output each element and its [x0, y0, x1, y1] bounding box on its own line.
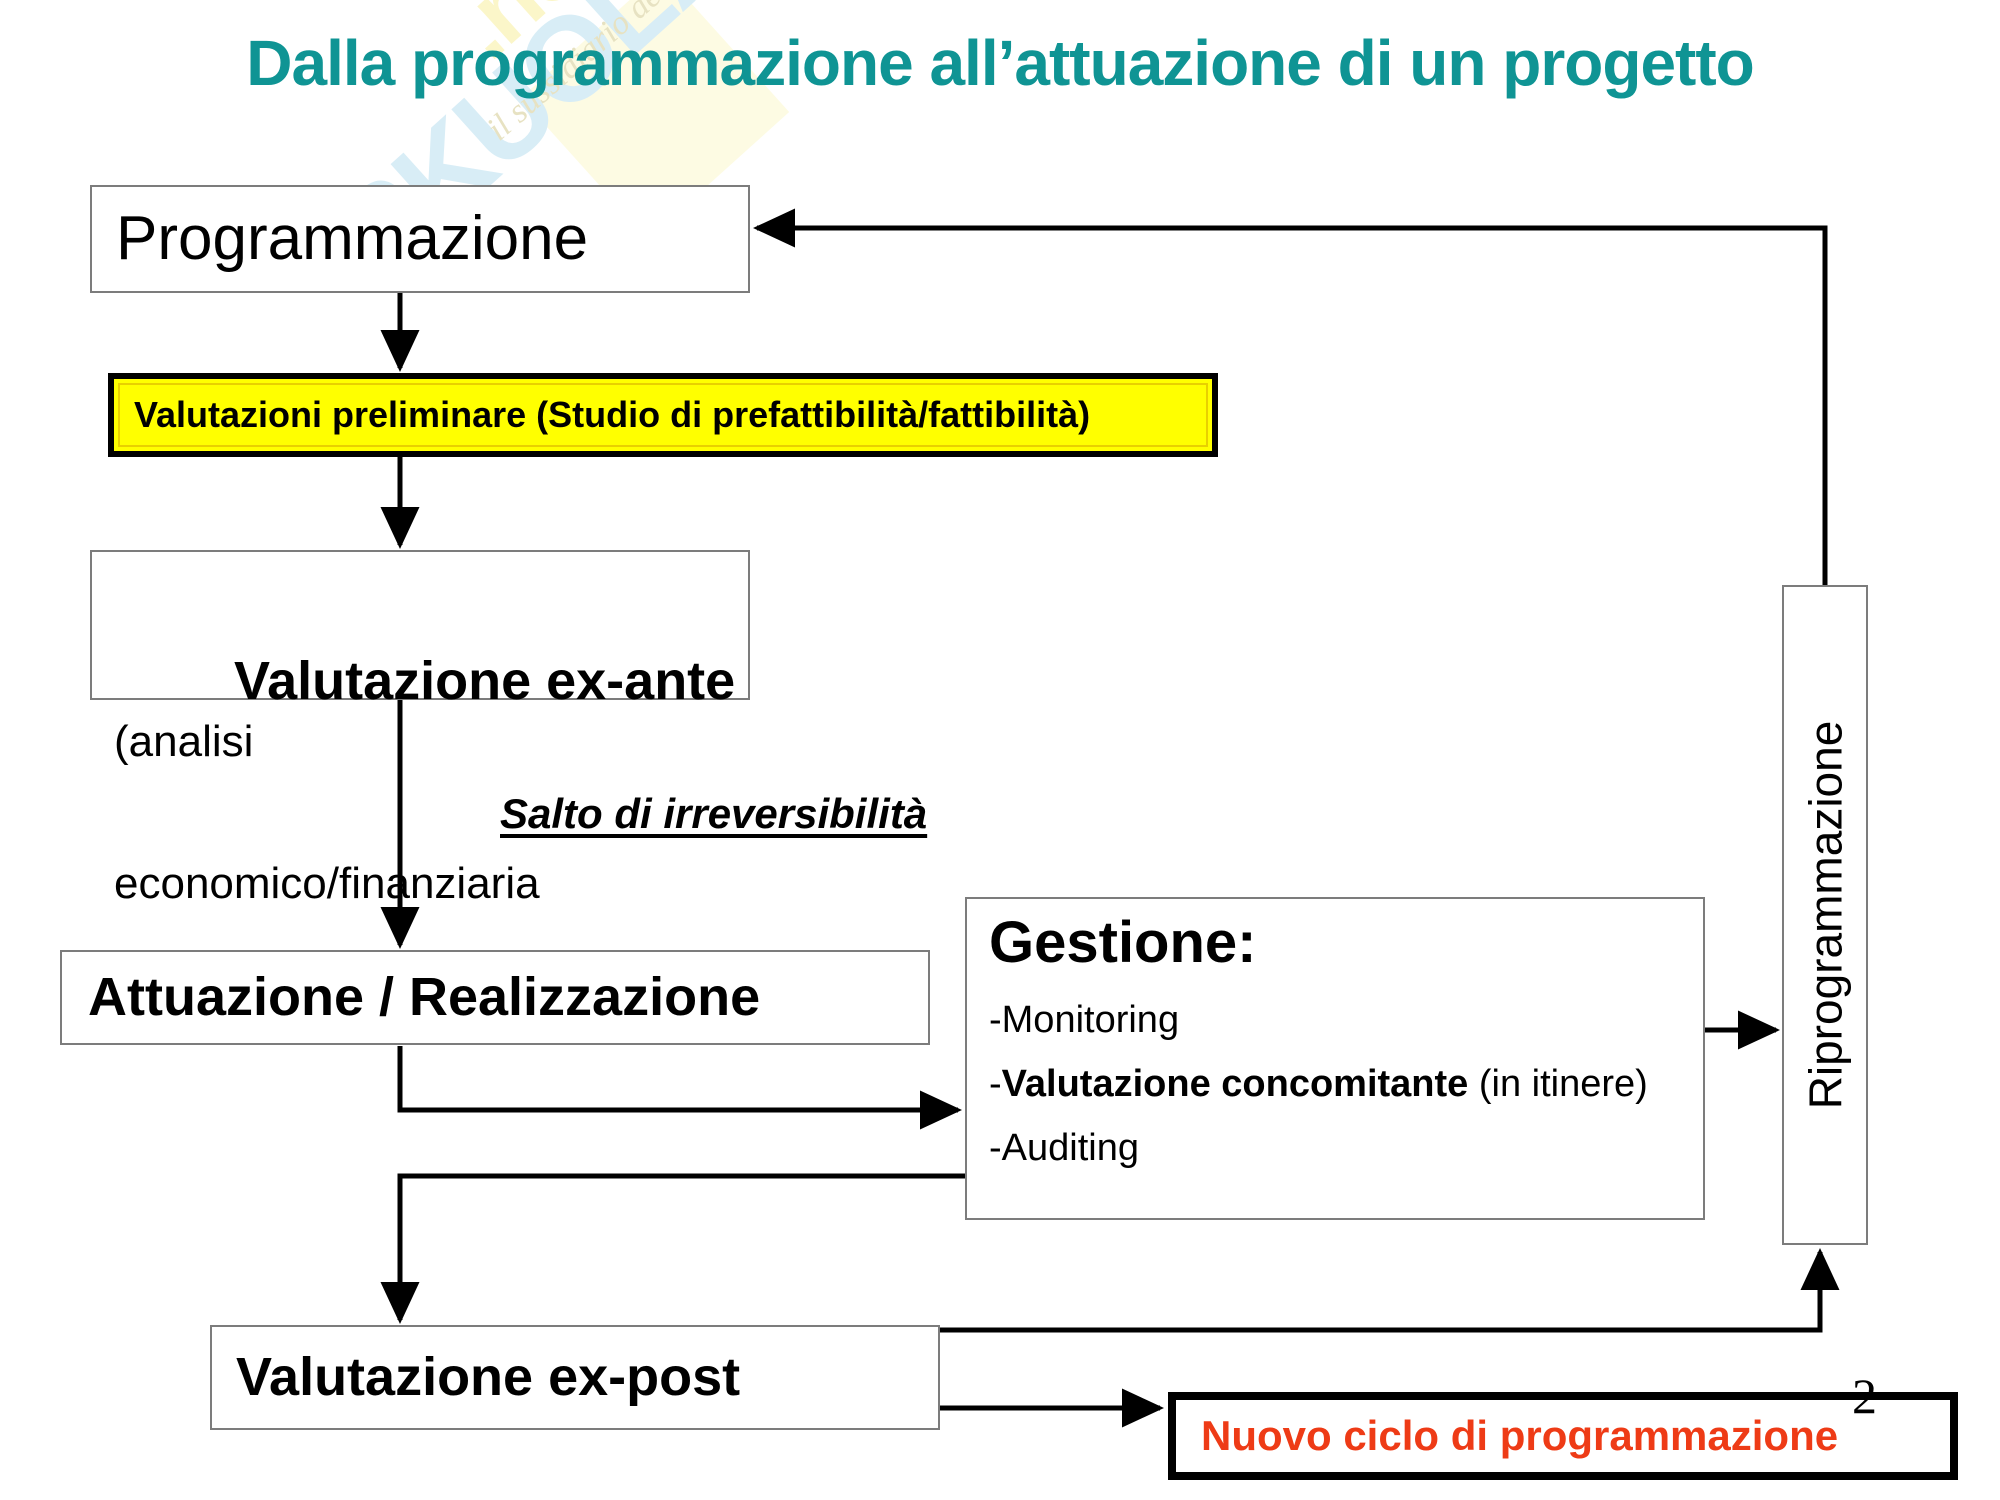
box-attuazione-label: Attuazione / Realizzazione — [88, 969, 760, 1026]
box-prefattibilita-label: Valutazioni preliminare (Studio di prefa… — [120, 394, 1090, 436]
gestione-item-0-text: Monitoring — [1002, 999, 1179, 1041]
gestione-item-2-text: Auditing — [1002, 1127, 1139, 1169]
page-number: 2 — [1852, 1367, 1877, 1425]
box-riprogrammazione-label: Riprogrammazione — [1798, 721, 1852, 1110]
box-programmazione-label: Programmazione — [116, 206, 588, 272]
gestione-item-auditing: -Auditing — [989, 1129, 1703, 1167]
box-valutazione-ex-post[interactable]: Valutazione ex-post — [210, 1325, 940, 1430]
arrow-ex-post-to-riprogrammazione — [940, 1252, 1820, 1330]
box-valutazione-ex-ante[interactable]: Valutazione ex-ante (analisi economico/f… — [90, 550, 750, 700]
slide-title: Dalla programmazione all’attuazione di u… — [0, 26, 2000, 100]
box-gestione[interactable]: Gestione: -Monitoring -Valutazione conco… — [965, 897, 1705, 1220]
box-nuovo-ciclo-label: Nuovo ciclo di programmazione — [1181, 1412, 1838, 1460]
label-salto-di-irreversibilita: Salto di irreversibilità — [500, 790, 927, 838]
gestione-item-valutazione-concomitante: -Valutazione concomitante (in itinere) — [989, 1065, 1703, 1103]
box-programmazione[interactable]: Programmazione — [90, 185, 750, 293]
box-nuovo-ciclo[interactable]: Nuovo ciclo di programmazione — [1168, 1392, 1958, 1480]
arrow-gestione-to-ex-post — [400, 1176, 965, 1320]
box-nuovo-ciclo-inner: Nuovo ciclo di programmazione — [1179, 1403, 1947, 1469]
gestione-item-0-prefix: - — [989, 999, 1002, 1041]
gestione-item-monitoring: -Monitoring — [989, 1001, 1703, 1039]
gestione-item-1-text: (in itinere) — [1468, 1063, 1648, 1105]
box-ex-ante-label-bold: Valutazione ex-ante — [234, 651, 735, 711]
gestione-item-1-prefix: - — [989, 1063, 1002, 1105]
box-ex-ante-label-line2: economico/finanziaria — [114, 861, 748, 908]
slide-canvas: SKUOLA .net il sussidiario dello student… — [0, 0, 2000, 1500]
box-riprogrammazione[interactable]: Riprogrammazione — [1782, 585, 1868, 1245]
box-gestione-title: Gestione: — [989, 911, 1703, 975]
box-prefattibilita-inner: Valutazioni preliminare (Studio di prefa… — [118, 383, 1208, 447]
box-attuazione-realizzazione[interactable]: Attuazione / Realizzazione — [60, 950, 930, 1045]
box-ex-post-label: Valutazione ex-post — [236, 1349, 740, 1406]
gestione-item-1-bold: Valutazione concomitante — [1002, 1063, 1469, 1105]
box-prefattibilita[interactable]: Valutazioni preliminare (Studio di prefa… — [108, 373, 1218, 457]
gestione-item-2-prefix: - — [989, 1127, 1002, 1169]
arrow-attuazione-to-gestione — [400, 1046, 958, 1110]
